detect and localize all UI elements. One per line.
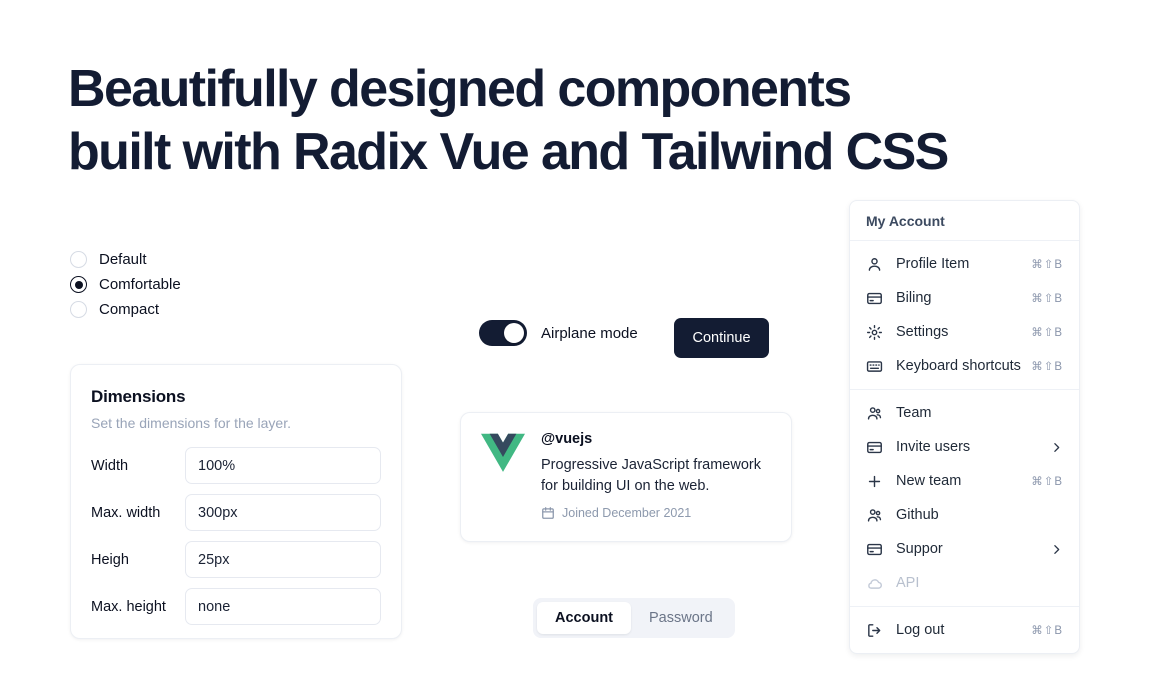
dimension-row: Heigh: [91, 541, 381, 578]
dimension-input-2[interactable]: [185, 541, 381, 578]
menu-item-shortcut: ⌘⇧B: [1031, 623, 1063, 637]
radio-group: DefaultComfortableCompact: [70, 247, 181, 322]
dimensions-field-list: WidthMax. widthHeighMax. height: [91, 447, 381, 625]
menu-item-shortcut: ⌘⇧B: [1031, 257, 1063, 271]
keyboard-icon: [866, 358, 883, 375]
menu-item-suppor[interactable]: Suppor: [850, 532, 1079, 566]
menu-group: Log out⌘⇧B: [850, 607, 1079, 653]
dimension-input-0[interactable]: [185, 447, 381, 484]
logout-icon: [866, 622, 883, 639]
switch-knob: [504, 323, 524, 343]
hero-line-2: built with Radix Vue and Tailwind CSS: [68, 123, 948, 181]
menu-item-label: New team: [896, 473, 1031, 489]
menu-item-label: Suppor: [896, 541, 1050, 557]
menu-item-keyboard-shortcuts[interactable]: Keyboard shortcuts⌘⇧B: [850, 349, 1079, 383]
plus-icon: [866, 473, 883, 490]
dimension-row: Width: [91, 447, 381, 484]
radio-label: Comfortable: [99, 276, 181, 293]
tab-password[interactable]: Password: [631, 602, 731, 634]
airplane-mode-row: Airplane mode: [479, 320, 638, 346]
dimension-input-1[interactable]: [185, 494, 381, 531]
vue-logo-icon: [481, 433, 525, 473]
radio-option-default[interactable]: Default: [70, 247, 181, 272]
radio-label: Compact: [99, 301, 159, 318]
credit-card-icon: [866, 290, 883, 307]
menu-item-shortcut: ⌘⇧B: [1031, 291, 1063, 305]
menu-item-label: Biling: [896, 290, 1031, 306]
menu-item-team[interactable]: Team: [850, 396, 1079, 430]
menu-item-github[interactable]: Github: [850, 498, 1079, 532]
dimension-input-3[interactable]: [185, 588, 381, 625]
menu-item-label: Keyboard shortcuts: [896, 358, 1031, 374]
hero-heading: Beautifully designed components built wi…: [68, 58, 1028, 184]
menu-item-profile-item[interactable]: Profile Item⌘⇧B: [850, 247, 1079, 281]
menu-item-log-out[interactable]: Log out⌘⇧B: [850, 613, 1079, 647]
menu-item-new-team[interactable]: New team⌘⇧B: [850, 464, 1079, 498]
dimension-row: Max. width: [91, 494, 381, 531]
radio-indicator[interactable]: [70, 301, 87, 318]
menu-item-shortcut: ⌘⇧B: [1031, 359, 1063, 373]
vue-joined-row: Joined December 2021: [541, 506, 771, 520]
menu-item-label: Profile Item: [896, 256, 1031, 272]
dimensions-title: Dimensions: [91, 387, 381, 407]
user-icon: [866, 256, 883, 273]
menu-body: Profile Item⌘⇧BBiling⌘⇧BSettings⌘⇧BKeybo…: [850, 241, 1079, 653]
continue-button[interactable]: Continue: [674, 318, 769, 358]
chevron-right-icon: [1050, 543, 1063, 556]
vue-description: Progressive JavaScript framework for bui…: [541, 455, 771, 497]
menu-item-label: Settings: [896, 324, 1031, 340]
menu-item-label: Invite users: [896, 439, 1050, 455]
hero-line-1: Beautifully designed components: [68, 60, 851, 118]
airplane-mode-switch[interactable]: [479, 320, 527, 346]
radio-label: Default: [99, 251, 147, 268]
users-icon: [866, 507, 883, 524]
vue-joined-text: Joined December 2021: [562, 506, 691, 520]
radio-option-comfortable[interactable]: Comfortable: [70, 272, 181, 297]
page-title: Beautifully designed components built wi…: [68, 58, 1028, 184]
radio-option-compact[interactable]: Compact: [70, 297, 181, 322]
hover-card-body: @vuejs Progressive JavaScript framework …: [541, 431, 771, 523]
chevron-right-icon: [1050, 441, 1063, 454]
dimension-row: Max. height: [91, 588, 381, 625]
dimension-label: Heigh: [91, 552, 185, 568]
menu-item-label: Team: [896, 405, 1063, 421]
settings-tabs: AccountPassword: [533, 598, 735, 638]
menu-header: My Account: [850, 201, 1079, 240]
gear-icon: [866, 324, 883, 341]
menu-item-api: API: [850, 566, 1079, 600]
dimensions-card: Dimensions Set the dimensions for the la…: [70, 364, 402, 639]
radio-indicator[interactable]: [70, 276, 87, 293]
page-root: Beautifully designed components built wi…: [0, 0, 1152, 700]
dimension-label: Width: [91, 458, 185, 474]
menu-item-label: Github: [896, 507, 1063, 523]
tab-account[interactable]: Account: [537, 602, 631, 634]
menu-item-label: Log out: [896, 622, 1031, 638]
menu-item-biling[interactable]: Biling⌘⇧B: [850, 281, 1079, 315]
account-dropdown-menu: My Account Profile Item⌘⇧BBiling⌘⇧BSetti…: [849, 200, 1080, 654]
vue-handle: @vuejs: [541, 431, 771, 447]
airplane-mode-label: Airplane mode: [541, 325, 638, 342]
menu-group: TeamInvite usersNew team⌘⇧BGithubSupporA…: [850, 390, 1079, 606]
dimension-label: Max. height: [91, 599, 185, 615]
menu-item-shortcut: ⌘⇧B: [1031, 474, 1063, 488]
dimension-label: Max. width: [91, 505, 185, 521]
vue-hover-card: @vuejs Progressive JavaScript framework …: [460, 412, 792, 542]
dimensions-subtitle: Set the dimensions for the layer.: [91, 415, 381, 431]
credit-card-icon: [866, 439, 883, 456]
menu-item-settings[interactable]: Settings⌘⇧B: [850, 315, 1079, 349]
radio-indicator[interactable]: [70, 251, 87, 268]
users-icon: [866, 405, 883, 422]
menu-item-label: API: [896, 575, 1063, 591]
calendar-icon: [541, 506, 555, 520]
menu-group: Profile Item⌘⇧BBiling⌘⇧BSettings⌘⇧BKeybo…: [850, 241, 1079, 389]
credit-card-icon: [866, 541, 883, 558]
cloud-icon: [866, 575, 883, 592]
menu-item-shortcut: ⌘⇧B: [1031, 325, 1063, 339]
menu-item-invite-users[interactable]: Invite users: [850, 430, 1079, 464]
